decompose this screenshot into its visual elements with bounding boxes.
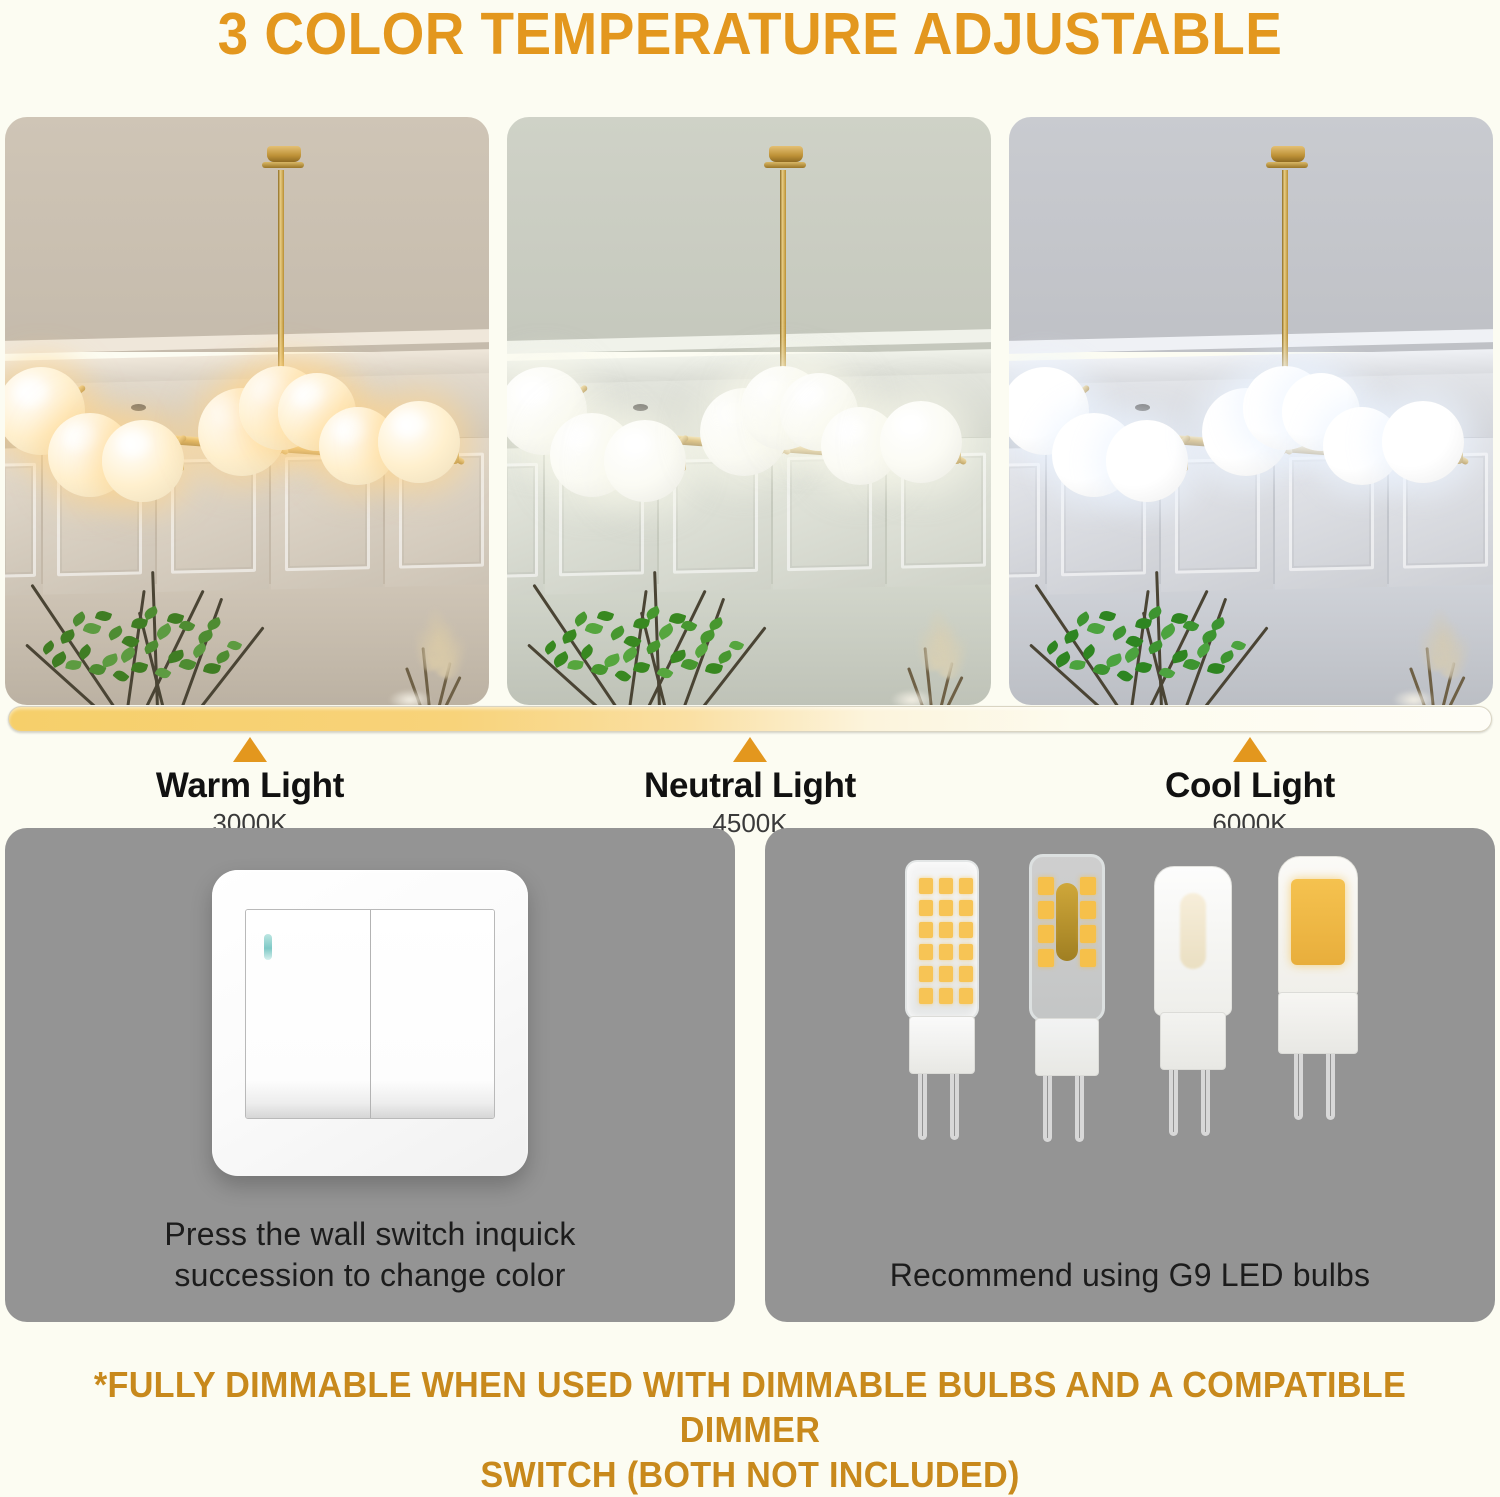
cabinet-doors	[5, 438, 489, 596]
g9-cob-led-bulb	[1266, 846, 1370, 1146]
switch-led-indicator-icon	[264, 934, 272, 960]
cabinet-door	[1009, 448, 1046, 596]
filament-core	[1056, 883, 1078, 961]
led-chip	[959, 944, 973, 960]
recessed-downlight-icon	[851, 414, 866, 421]
led-chip	[1080, 877, 1096, 895]
g9-pin	[1201, 1068, 1210, 1136]
g9-pin	[950, 1072, 959, 1140]
bulb-base	[909, 1016, 975, 1074]
marker-triangle-icon	[233, 737, 267, 762]
dimmable-disclaimer: *FULLY DIMMABLE WHEN USED WITH DIMMABLE …	[38, 1362, 1463, 1497]
color-temperature-gradient-bar	[8, 706, 1492, 732]
g9-frosted-capsule-bulb	[1141, 846, 1245, 1146]
switch-rockers	[245, 909, 495, 1119]
marker-triangle-icon	[733, 737, 767, 762]
ct-name: Cool Light	[1000, 768, 1500, 805]
g9-pin	[1169, 1068, 1178, 1136]
ceiling	[5, 117, 489, 352]
led-chip	[1080, 925, 1096, 943]
lower-wall	[507, 584, 991, 705]
marker-triangle-icon	[1233, 737, 1267, 762]
ct-name: Neutral Light	[500, 768, 1000, 805]
g9-bulbs-image	[890, 846, 1370, 1146]
g9-pin	[918, 1072, 927, 1140]
led-chip	[1038, 877, 1054, 895]
led-chip	[959, 966, 973, 982]
cabinet-door	[1162, 443, 1274, 593]
cabinet-doors	[507, 438, 991, 596]
led-chip	[919, 900, 933, 916]
ct-label-warm: Warm Light 3000K	[0, 737, 500, 827]
footer-line-2: SWITCH (BOTH NOT INCLUDED)	[38, 1452, 1463, 1497]
led-chip	[1038, 925, 1054, 943]
color-temperature-photo-row	[5, 117, 1495, 705]
cabinet-door	[158, 443, 270, 593]
cabinet-door	[888, 438, 991, 588]
cabinet-door	[774, 440, 886, 590]
color-temperature-labels: Warm Light 3000K Neutral Light 4500K Coo…	[0, 737, 1500, 827]
cabinet-door	[44, 445, 156, 595]
led-chip	[919, 988, 933, 1004]
led-chip	[1080, 949, 1096, 967]
cabinet-door	[1276, 440, 1388, 590]
led-chip	[919, 878, 933, 894]
cabinet-door	[272, 440, 384, 590]
cabinet-door	[507, 448, 544, 596]
switch-rocker-right[interactable]	[370, 910, 495, 1118]
bulb-capsule	[1278, 856, 1358, 996]
recessed-downlight-icon	[349, 414, 364, 421]
lower-wall	[1009, 584, 1493, 705]
led-chip	[939, 878, 953, 894]
g9-clear-filament-bulb	[1015, 846, 1119, 1146]
ct-name: Warm Light	[0, 768, 500, 805]
g9-pin	[1043, 1074, 1052, 1142]
wall-switch-panel: Press the wall switch inquick succession…	[5, 828, 735, 1322]
room-background	[1009, 117, 1493, 705]
cabinet-door	[5, 448, 42, 596]
warm-light-photo	[5, 117, 489, 705]
ct-label-cool: Cool Light 6000K	[1000, 737, 1500, 827]
neutral-light-photo	[507, 117, 991, 705]
bulb-capsule	[1154, 866, 1232, 1016]
ceiling	[1009, 117, 1493, 352]
recessed-downlight-icon	[1135, 404, 1150, 411]
cabinet-doors	[1009, 438, 1493, 596]
g9-pin	[1294, 1052, 1303, 1120]
g9-smd-led-bulb	[890, 846, 994, 1146]
recessed-downlight-icon	[1353, 414, 1368, 421]
feature-panels: Press the wall switch inquick succession…	[5, 828, 1495, 1322]
bulb-base	[1278, 992, 1358, 1054]
led-chip	[939, 988, 953, 1004]
cabinet-door	[546, 445, 658, 595]
led-chip	[1080, 901, 1096, 919]
led-chip	[959, 900, 973, 916]
led-chip	[959, 988, 973, 1004]
cabinet-door	[660, 443, 772, 593]
footer-line-1: *FULLY DIMMABLE WHEN USED WITH DIMMABLE …	[38, 1362, 1463, 1452]
diffused-led-core	[1180, 893, 1206, 969]
cob-led-panel	[1291, 879, 1345, 965]
wall-switch-image	[212, 870, 528, 1176]
recessed-downlight-icon	[131, 404, 146, 411]
cabinet-door	[1390, 438, 1493, 588]
led-chip	[939, 922, 953, 938]
ct-label-neutral: Neutral Light 4500K	[500, 737, 1000, 827]
g9-pin	[1075, 1074, 1084, 1142]
page-title: 3 COLOR TEMPERATURE ADJUSTABLE	[53, 2, 1448, 67]
led-chip	[939, 944, 953, 960]
bulb-capsule	[1029, 854, 1105, 1022]
cool-light-photo	[1009, 117, 1493, 705]
room-background	[5, 117, 489, 705]
led-chip	[1038, 949, 1054, 967]
cabinet-door	[386, 438, 489, 588]
led-chip	[939, 966, 953, 982]
caption-line-2: succession to change color	[5, 1255, 735, 1296]
led-chip	[959, 878, 973, 894]
caption-line-1: Recommend using G9 LED bulbs	[765, 1255, 1495, 1296]
g9-bulbs-panel: Recommend using G9 LED bulbs	[765, 828, 1495, 1322]
led-chip	[919, 922, 933, 938]
g9-bulbs-caption: Recommend using G9 LED bulbs	[765, 1255, 1495, 1296]
g9-pin	[1326, 1052, 1335, 1120]
led-chip	[959, 922, 973, 938]
led-chip	[939, 900, 953, 916]
led-chip	[919, 944, 933, 960]
bulb-base	[1160, 1012, 1226, 1070]
recessed-downlight-icon	[633, 404, 648, 411]
room-background	[507, 117, 991, 705]
ceiling	[507, 117, 991, 352]
bulb-capsule	[905, 860, 979, 1020]
switch-rocker-left[interactable]	[246, 910, 370, 1118]
led-chip	[1038, 901, 1054, 919]
bulb-base	[1035, 1018, 1099, 1076]
caption-line-1: Press the wall switch inquick	[5, 1214, 735, 1255]
wall-switch-caption: Press the wall switch inquick succession…	[5, 1214, 735, 1296]
lower-wall	[5, 584, 489, 705]
led-chip	[919, 966, 933, 982]
cabinet-door	[1048, 445, 1160, 595]
